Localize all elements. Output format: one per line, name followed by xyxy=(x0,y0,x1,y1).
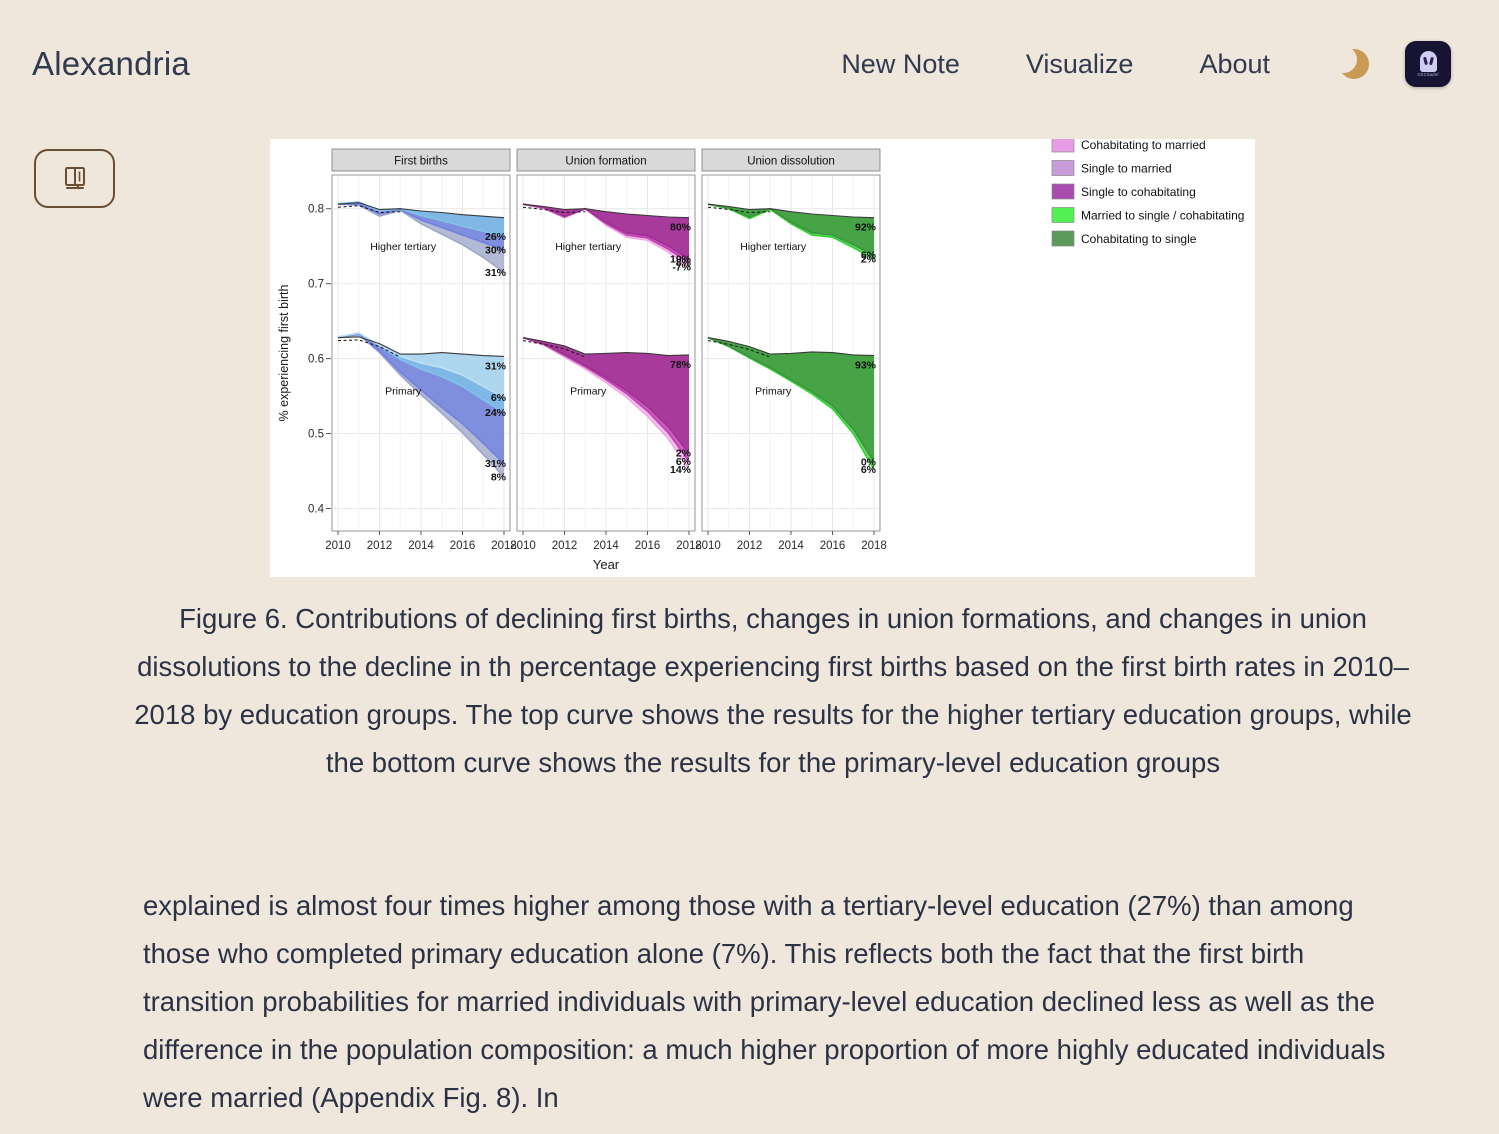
library-toggle-button[interactable] xyxy=(34,149,115,208)
book-icon xyxy=(63,166,87,192)
x-tick-label: 2012 xyxy=(552,540,578,552)
band-end-label: 24% xyxy=(485,407,507,419)
nav-item-about[interactable]: About xyxy=(1166,49,1303,80)
band-end-label: 6% xyxy=(491,392,507,404)
chart-panel-1: First birthsHigher tertiary26%30%31%Prim… xyxy=(325,149,517,552)
decomposition-panel-chart: % experiencing first birth0.40.50.60.70.… xyxy=(270,139,1255,577)
figure-caption: Figure 6. Contributions of declining fir… xyxy=(128,595,1418,787)
x-tick-label: 2018 xyxy=(861,540,887,552)
band-end-label: 30% xyxy=(485,244,507,256)
app-header: Alexandria New Note Visualize About GitC… xyxy=(0,0,1499,128)
chart-legend: Cohabitating to marriedSingle to married… xyxy=(1052,139,1244,246)
y-tick-label: 0.6 xyxy=(308,354,324,366)
panel-title: Union formation xyxy=(565,156,646,168)
band-end-label: 2% xyxy=(861,253,877,265)
x-tick-label: 2016 xyxy=(820,540,846,552)
ghost-logo-icon xyxy=(1420,51,1437,72)
figure-image-container: % experiencing first birth0.40.50.60.70.… xyxy=(270,139,1255,577)
legend-swatch xyxy=(1052,208,1074,223)
x-tick-label: 2014 xyxy=(778,540,804,552)
band-end-label: -7% xyxy=(672,262,691,274)
y-axis-title: % experiencing first birth xyxy=(277,285,291,422)
chart-panel-3: Union dissolutionHigher tertiary92%6%2%P… xyxy=(695,149,887,552)
legend-label: Cohabitating to married xyxy=(1081,139,1206,152)
reference-end-label: 93% xyxy=(855,360,877,372)
article-body-paragraph: explained is almost four times higher am… xyxy=(143,882,1393,1122)
x-axis-title: Year xyxy=(593,557,620,572)
reference-end-label: 92% xyxy=(855,222,877,234)
theme-toggle-button[interactable] xyxy=(1303,47,1405,81)
legend-label: Single to married xyxy=(1081,162,1172,176)
reference-end-label: 80% xyxy=(670,222,692,234)
x-tick-label: 2010 xyxy=(325,540,351,552)
group-label: Higher tertiary xyxy=(555,241,622,253)
group-label: Primary xyxy=(385,386,422,398)
band-end-label: 31% xyxy=(485,267,507,279)
group-label: Primary xyxy=(570,386,607,398)
x-tick-label: 2014 xyxy=(593,540,619,552)
y-tick-label: 0.7 xyxy=(308,279,324,291)
x-tick-label: 2016 xyxy=(635,540,661,552)
legend-label: Married to single / cohabitating xyxy=(1081,209,1244,223)
legend-label: Single to cohabitating xyxy=(1081,185,1196,199)
x-tick-label: 2010 xyxy=(695,540,721,552)
group-label: Higher tertiary xyxy=(740,241,807,253)
main-nav: New Note Visualize About GitCitadel xyxy=(808,41,1467,87)
group-label: Higher tertiary xyxy=(370,241,437,253)
chart-panel-2: Union formationHigher tertiary80%19%8%-7… xyxy=(510,149,702,552)
nav-item-new-note[interactable]: New Note xyxy=(808,49,993,80)
band-end-label: 8% xyxy=(491,472,507,484)
legend-swatch xyxy=(1052,231,1074,246)
band-end-label: 6% xyxy=(861,464,877,476)
reference-end-label: 31% xyxy=(485,360,507,372)
legend-label: Cohabitating to single xyxy=(1081,232,1197,246)
band-end-label: 31% xyxy=(485,458,507,470)
y-tick-label: 0.4 xyxy=(308,504,325,516)
x-tick-label: 2016 xyxy=(450,540,476,552)
moon-icon xyxy=(1341,47,1375,81)
x-tick-label: 2012 xyxy=(737,540,763,552)
app-badge-label: GitCitadel xyxy=(1417,73,1438,77)
y-tick-label: 0.5 xyxy=(308,429,324,441)
legend-swatch xyxy=(1052,161,1074,176)
panel-title: First births xyxy=(394,156,448,168)
gitcitadel-app-badge[interactable]: GitCitadel xyxy=(1405,41,1451,87)
legend-swatch xyxy=(1052,184,1074,199)
legend-swatch xyxy=(1052,139,1074,152)
nav-item-visualize[interactable]: Visualize xyxy=(993,49,1167,80)
y-tick-label: 0.8 xyxy=(308,204,324,216)
x-tick-label: 2014 xyxy=(408,540,434,552)
reference-end-label: 78% xyxy=(670,359,692,371)
app-brand-title: Alexandria xyxy=(32,45,190,83)
band-end-label: 14% xyxy=(670,464,692,476)
panel-title: Union dissolution xyxy=(747,156,835,168)
x-tick-label: 2010 xyxy=(510,540,536,552)
group-label: Primary xyxy=(755,386,792,398)
band-end-label: 26% xyxy=(485,231,507,243)
x-tick-label: 2012 xyxy=(367,540,393,552)
